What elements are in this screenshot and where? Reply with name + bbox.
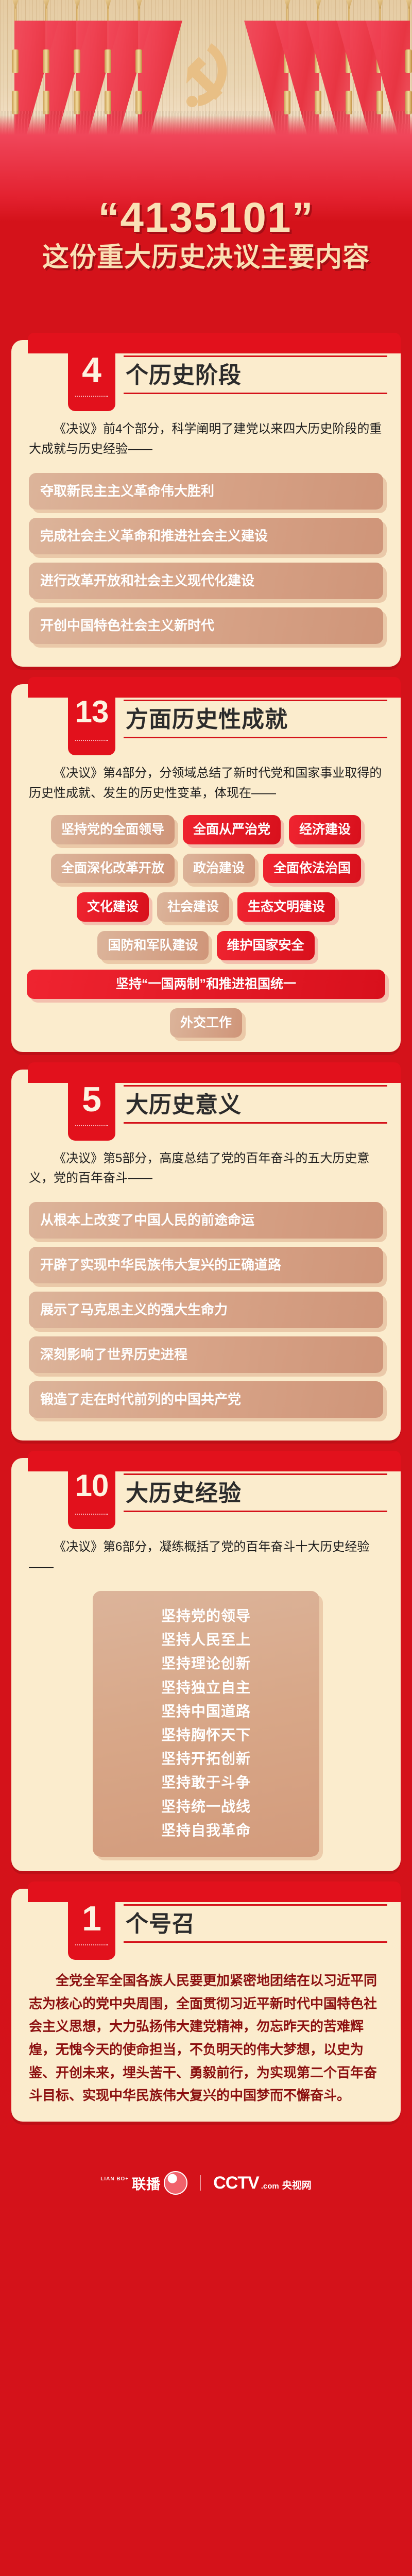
section-header: 5 大历史意义: [11, 1070, 401, 1147]
hero-banner: “4135101” 这份重大历史决议主要内容: [0, 0, 412, 222]
section-lead-text: 《决议》第5部分，高度总结了党的百年奋斗的五大历史意义，党的百年奋斗——: [29, 1149, 383, 1189]
section-header: 13 方面历史性成就: [11, 684, 401, 761]
section-number: 10: [68, 1470, 115, 1501]
pill-item[interactable]: 全面依法治国: [263, 854, 361, 883]
pill-item[interactable]: 社会建设: [157, 892, 229, 922]
list-item[interactable]: 夺取新民主主义革命伟大胜利: [29, 473, 383, 510]
call-paragraph: 全党全军全国各族人民要更加紧密地团结在以习近平同志为核心的党中央周围，全面贯彻习…: [29, 1969, 383, 2107]
list-item[interactable]: 坚持中国道路: [93, 1700, 319, 1723]
pill-item[interactable]: 经济建设: [289, 815, 361, 844]
lianbo-logo: LIAN BO+ 联播: [100, 2171, 187, 2195]
footer-divider: [200, 2175, 201, 2191]
section-headline: 方面历史性成就: [124, 700, 387, 738]
cctv-logo: CCTV .com 央视网: [213, 2173, 312, 2193]
experience-list: 坚持党的领导 坚持人民至上 坚持理论创新 坚持独立自主 坚持中国道路 坚持胸怀天…: [93, 1591, 319, 1857]
significance-list: 从根本上改变了中国人民的前途命运 开辟了实现中华民族伟大复兴的正确道路 展示了马…: [29, 1202, 383, 1418]
poster-title: “4135101” 这份重大历史决议主要内容: [0, 197, 412, 272]
list-item[interactable]: 坚持统一战线: [93, 1795, 319, 1819]
achievement-pill-group: 坚持党的全面领导 全面从严治党 经济建设 全面深化改革开放 政治建设 全面依法治…: [27, 815, 385, 1038]
cctv-chinese-name: 央视网: [282, 2178, 312, 2192]
list-item[interactable]: 坚持党的领导: [93, 1604, 319, 1628]
infographic-poster: “4135101” 这份重大历史决议主要内容 4 个历史阶段 《决议》前4个部分…: [0, 0, 412, 2576]
spear-tip-icon: [346, 0, 352, 9]
spear-tip-icon: [105, 0, 111, 9]
pill-item[interactable]: 全面深化改革开放: [51, 854, 175, 883]
section-card-historic-significance: 5 大历史意义 《决议》第5部分，高度总结了党的百年奋斗的五大历史意义，党的百年…: [11, 1070, 401, 1441]
section-headline: 个号召: [124, 1904, 387, 1943]
section-card-call-to-action: 1 个号召 全党全军全国各族人民要更加紧密地团结在以习近平同志为核心的党中央周围…: [11, 1889, 401, 2122]
section-number: 13: [68, 697, 115, 727]
footer-logos: LIAN BO+ 联播 CCTV .com 央视网: [0, 2139, 412, 2227]
section-lead-text: 《决议》第6部分，凝练概括了党的百年奋斗十大历史经验——: [29, 1537, 383, 1578]
spear-tip-icon: [74, 0, 80, 9]
title-subtitle: 这份重大历史决议主要内容: [0, 243, 412, 272]
list-item[interactable]: 开辟了实现中华民族伟大复兴的正确道路: [29, 1247, 383, 1283]
section-header: 1 个号召: [11, 1889, 401, 1966]
pill-item[interactable]: 国防和军队建设: [97, 931, 208, 960]
list-item[interactable]: 坚持敢于斗争: [93, 1771, 319, 1794]
list-item[interactable]: 从根本上改变了中国人民的前途命运: [29, 1202, 383, 1239]
hammer-and-sickle-icon: [175, 38, 237, 115]
list-item[interactable]: 开创中国特色社会主义新时代: [29, 607, 383, 644]
globe-icon: [164, 2171, 187, 2195]
list-item[interactable]: 坚持人民至上: [93, 1628, 319, 1652]
section-card-historical-stages: 4 个历史阶段 《决议》前4个部分，科学阐明了建党以来四大历史阶段的重大成就与历…: [11, 340, 401, 667]
pill-item[interactable]: 坚持党的全面领导: [51, 815, 175, 844]
section-header: 4 个历史阶段: [11, 340, 401, 417]
list-item[interactable]: 完成社会主义革命和推进社会主义建设: [29, 518, 383, 554]
pill-item[interactable]: 外交工作: [170, 1008, 242, 1038]
section-card-historic-experience: 10 大历史经验 《决议》第6部分，凝练概括了党的百年奋斗十大历史经验—— 坚持…: [11, 1458, 401, 1871]
pill-item[interactable]: 文化建设: [77, 892, 149, 922]
list-item[interactable]: 坚持开拓创新: [93, 1747, 319, 1771]
section-number: 4: [68, 352, 115, 387]
pill-item[interactable]: 生态文明建设: [237, 892, 335, 922]
spear-tip-icon: [315, 0, 321, 9]
list-item[interactable]: 坚持理论创新: [93, 1652, 319, 1675]
title-number: “4135101”: [0, 197, 412, 239]
pill-item[interactable]: 维护国家安全: [217, 931, 315, 960]
section-lead-text: 《决议》第4部分，分领域总结了新时代党和国家事业取得的历史性成就、发生的历史性变…: [29, 764, 383, 804]
spear-tip-icon: [43, 0, 49, 9]
section-lead-text: 《决议》前4个部分，科学阐明了建党以来四大历史阶段的重大成就与历史经验——: [29, 419, 383, 460]
section-headline: 个历史阶段: [124, 355, 387, 394]
section-headline: 大历史经验: [124, 1473, 387, 1512]
list-item[interactable]: 坚持自我革命: [93, 1819, 319, 1842]
section-headline: 大历史意义: [124, 1085, 387, 1124]
spear-tip-icon: [12, 0, 19, 9]
list-item[interactable]: 坚持胸怀天下: [93, 1723, 319, 1747]
cctv-wordmark: CCTV: [213, 2173, 259, 2193]
pill-item[interactable]: 政治建设: [183, 854, 255, 883]
list-item[interactable]: 展示了马克思主义的强大生命力: [29, 1292, 383, 1328]
section-number: 5: [68, 1082, 115, 1117]
section-number: 1: [68, 1901, 115, 1936]
cctv-dotcom: .com: [261, 2182, 279, 2191]
section-header: 10 大历史经验: [11, 1458, 401, 1535]
pill-item[interactable]: 全面从严治党: [183, 815, 281, 844]
section-card-historic-achievements: 13 方面历史性成就 《决议》第4部分，分领域总结了新时代党和国家事业取得的历史…: [11, 684, 401, 1052]
stage-list: 夺取新民主主义革命伟大胜利 完成社会主义革命和推进社会主义建设 进行改革开放和社…: [29, 473, 383, 644]
spear-tip-icon: [136, 0, 142, 9]
list-item[interactable]: 进行改革开放和社会主义现代化建设: [29, 563, 383, 599]
pill-item[interactable]: 坚持“一国两制”和推进祖国统一: [27, 970, 385, 999]
lianbo-label: 联播: [132, 2173, 161, 2193]
spear-tip-icon: [377, 0, 383, 9]
list-item[interactable]: 深刻影响了世界历史进程: [29, 1336, 383, 1373]
spear-tip-icon: [406, 0, 412, 9]
list-item[interactable]: 坚持独立自主: [93, 1676, 319, 1700]
lianbo-latin-tag: LIAN BO+: [100, 2177, 129, 2182]
spear-tip-icon: [284, 0, 290, 9]
list-item[interactable]: 锻造了走在时代前列的中国共产党: [29, 1381, 383, 1418]
